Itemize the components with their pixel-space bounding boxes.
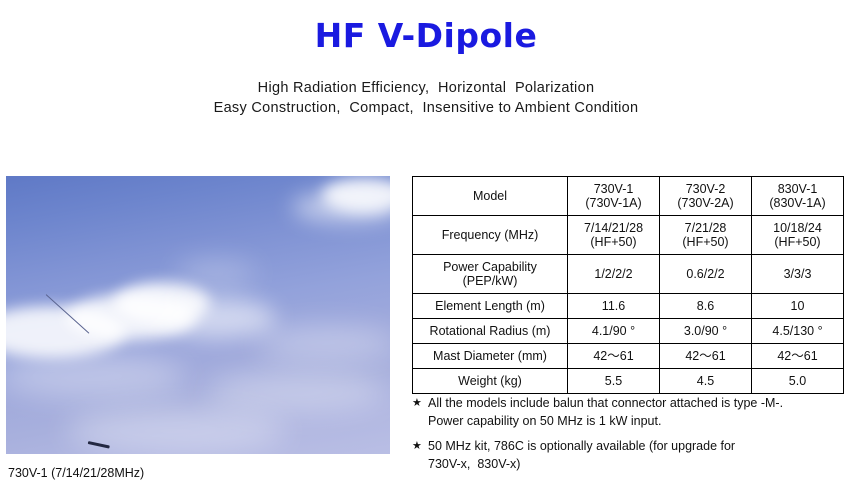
row-label: Power Capability (PEP/kW) xyxy=(413,255,568,294)
cell-value: 4.5 xyxy=(660,369,752,394)
cell-value: 5.0 xyxy=(752,369,844,394)
row-label: Element Length (m) xyxy=(413,294,568,319)
cell-value: 7/14/21/28 (HF+50) xyxy=(568,216,660,255)
cloud-shape xyxy=(256,326,390,360)
row-label: Model xyxy=(413,177,568,216)
table-row-model: Model 730V-1 (730V-1A) 730V-2 (730V-2A) … xyxy=(413,177,844,216)
star-icon: ★ xyxy=(412,394,422,412)
cell-value: 0.6/2/2 xyxy=(660,255,752,294)
footnote-line: 50 MHz kit, 786C is optionally available… xyxy=(428,437,848,455)
cell-value: 10 xyxy=(752,294,844,319)
row-label: Frequency (MHz) xyxy=(413,216,568,255)
page-title: HF V-Dipole xyxy=(0,16,852,55)
cell-value: 730V-1 (730V-1A) xyxy=(568,177,660,216)
cell-value: 4.1/90 ° xyxy=(568,319,660,344)
specifications-table: Model 730V-1 (730V-1A) 730V-2 (730V-2A) … xyxy=(412,176,844,394)
row-label: Weight (kg) xyxy=(413,369,568,394)
cell-value: 42～61 xyxy=(660,344,752,369)
cell-value: 3/3/3 xyxy=(752,255,844,294)
hf-v-dipole-antenna-photo xyxy=(6,176,390,454)
cell-value: 3.0/90 ° xyxy=(660,319,752,344)
cell-value: 10/18/24 (HF+50) xyxy=(752,216,844,255)
cell-value: 42～61 xyxy=(568,344,660,369)
footnote-item: ★ 50 MHz kit, 786C is optionally availab… xyxy=(412,437,848,473)
table-row-power-capability: Power Capability (PEP/kW) 1/2/2/2 0.6/2/… xyxy=(413,255,844,294)
footnotes-block: ★ All the models include balun that conn… xyxy=(412,394,848,480)
photo-caption: 730V-1 (7/14/21/28MHz) xyxy=(8,466,144,480)
subtitle-line-1: High Radiation Efficiency, Horizontal Po… xyxy=(0,78,852,98)
cell-value: 42～61 xyxy=(752,344,844,369)
antenna-photo-figure xyxy=(6,176,390,454)
footnote-item: ★ All the models include balun that conn… xyxy=(412,394,848,430)
table-row-element-length: Element Length (m) 11.6 8.6 10 xyxy=(413,294,844,319)
cloud-shape xyxy=(176,262,256,284)
cloud-shape xyxy=(66,408,286,454)
footnote-line: All the models include balun that connec… xyxy=(428,394,848,412)
table-row-mast-diameter: Mast Diameter (mm) 42～61 42～61 42～61 xyxy=(413,344,844,369)
table-row-frequency: Frequency (MHz) 7/14/21/28 (HF+50) 7/21/… xyxy=(413,216,844,255)
table-row-rotational-radius: Rotational Radius (m) 4.1/90 ° 3.0/90 ° … xyxy=(413,319,844,344)
row-label: Rotational Radius (m) xyxy=(413,319,568,344)
subtitle-block: High Radiation Efficiency, Horizontal Po… xyxy=(0,78,852,118)
subtitle-line-2: Easy Construction, Compact, Insensitive … xyxy=(0,98,852,118)
cloud-shape xyxy=(156,298,276,338)
star-icon: ★ xyxy=(412,437,422,455)
footnote-line: 730V-x, 830V-x) xyxy=(428,455,848,473)
cell-value: 11.6 xyxy=(568,294,660,319)
cell-value: 7/21/28 (HF+50) xyxy=(660,216,752,255)
cell-value: 8.6 xyxy=(660,294,752,319)
cloud-shape xyxy=(206,372,386,412)
cell-value: 5.5 xyxy=(568,369,660,394)
table-row-weight: Weight (kg) 5.5 4.5 5.0 xyxy=(413,369,844,394)
footnote-line: Power capability on 50 MHz is 1 kW input… xyxy=(428,412,848,430)
row-label: Mast Diameter (mm) xyxy=(413,344,568,369)
cell-value: 730V-2 (730V-2A) xyxy=(660,177,752,216)
cloud-shape xyxy=(292,192,390,222)
cell-value: 830V-1 (830V-1A) xyxy=(752,177,844,216)
cell-value: 1/2/2/2 xyxy=(568,255,660,294)
cloud-shape xyxy=(6,354,186,398)
cell-value: 4.5/130 ° xyxy=(752,319,844,344)
